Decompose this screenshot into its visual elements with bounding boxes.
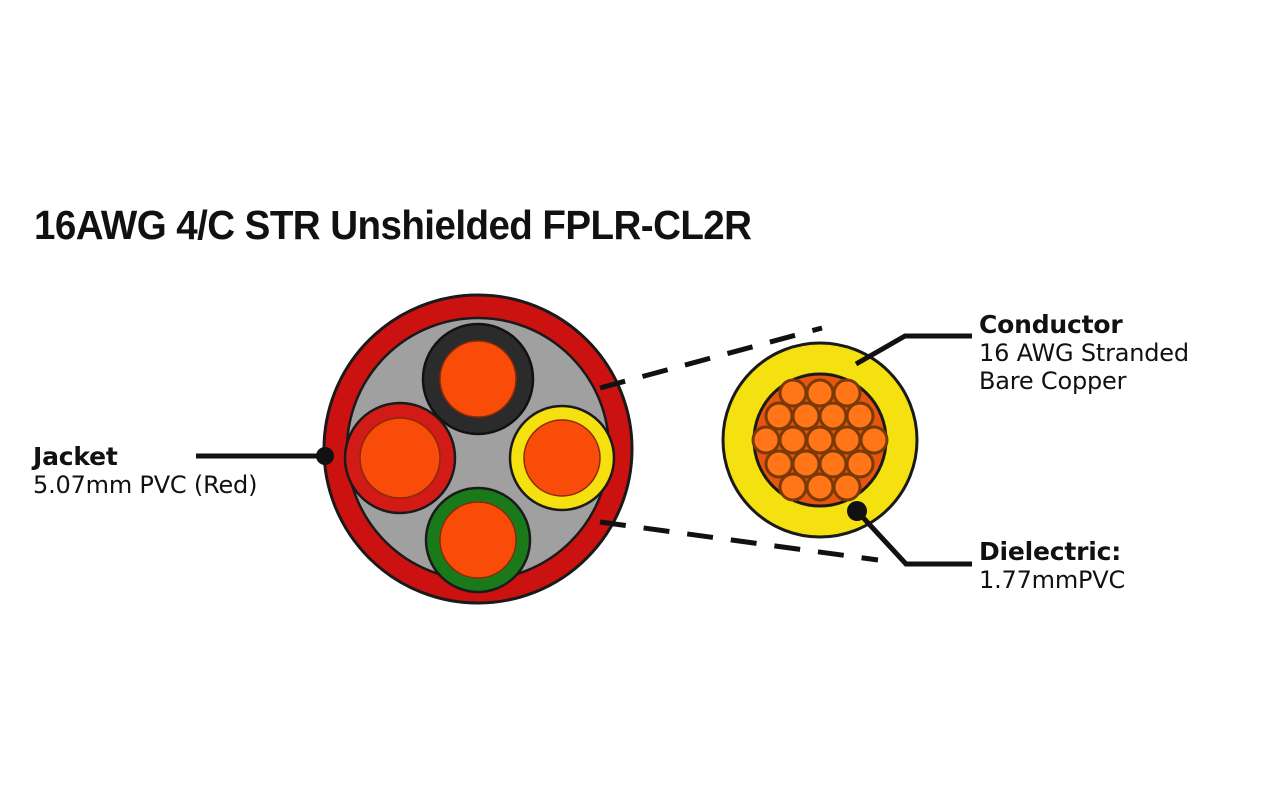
conductor-label-heading: Conductor [979, 310, 1189, 339]
copper-strand [807, 474, 833, 500]
dielectric-label: Dielectric: 1.77mmPVC [979, 537, 1125, 594]
black-conductor-core [440, 341, 516, 417]
copper-strand [807, 427, 833, 453]
yellow-conductor [510, 406, 614, 510]
red-conductor [345, 403, 455, 513]
yellow-conductor-core [524, 420, 600, 496]
cable-diagram-svg [0, 0, 1280, 800]
black-conductor [423, 324, 533, 434]
jacket-leader-dot [316, 447, 334, 465]
conductor-label-detail-line2: Bare Copper [979, 367, 1189, 395]
copper-strand [780, 380, 806, 406]
copper-strand [766, 403, 792, 429]
copper-strand [834, 380, 860, 406]
copper-strand [847, 451, 873, 477]
green-conductor [426, 488, 530, 592]
copper-strand [861, 427, 887, 453]
copper-strand [780, 427, 806, 453]
cable-cross-section [324, 295, 632, 603]
jacket-label-detail: 5.07mm PVC (Red) [33, 471, 257, 499]
jacket-label-heading: Jacket [33, 442, 257, 471]
jacket-label: Jacket 5.07mm PVC (Red) [33, 442, 257, 499]
conductor-label-detail-line1: 16 AWG Stranded [979, 339, 1189, 367]
dielectric-label-detail: 1.77mmPVC [979, 566, 1125, 594]
copper-strand [766, 451, 792, 477]
conductor-label: Conductor 16 AWG Stranded Bare Copper [979, 310, 1189, 395]
red-conductor-core [360, 418, 440, 498]
dielectric-label-heading: Dielectric: [979, 537, 1125, 566]
dielectric-leader-dot [847, 501, 867, 521]
green-conductor-core [440, 502, 516, 578]
copper-strand [834, 427, 860, 453]
copper-strand [807, 380, 833, 406]
diagram-canvas: 16AWG 4/C STR Unshielded FPLR-CL2R [0, 0, 1280, 800]
copper-strand [780, 474, 806, 500]
magnified-conductor-detail [723, 343, 917, 537]
copper-strand [753, 427, 779, 453]
